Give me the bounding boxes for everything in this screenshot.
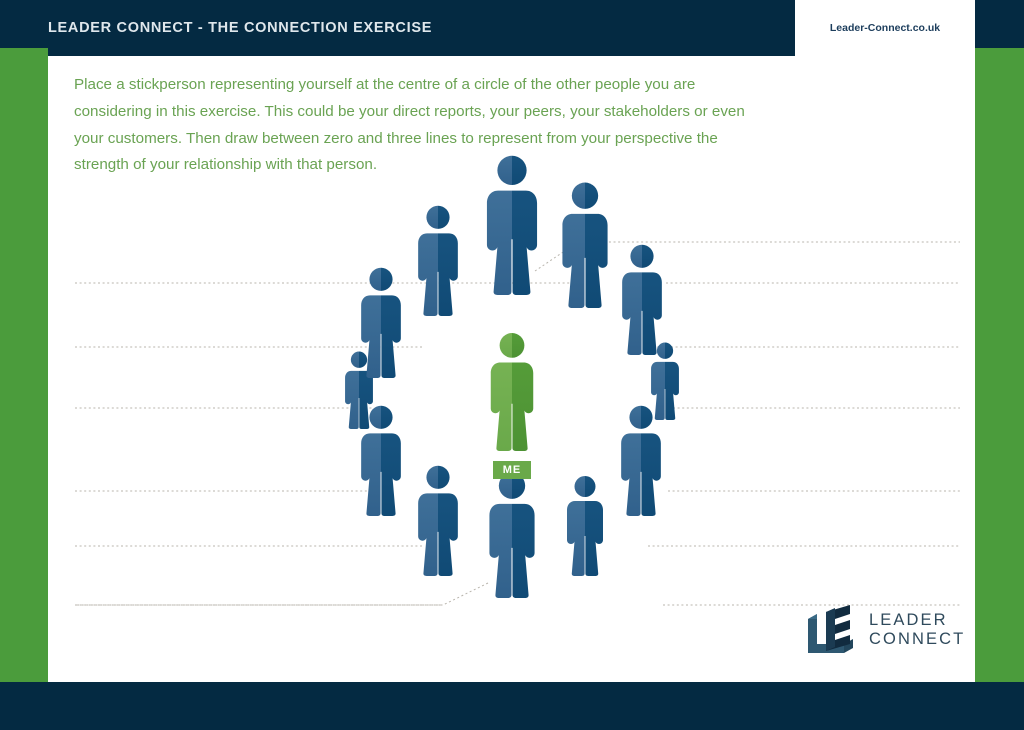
person-left-lower-body-right [381,433,401,516]
slide-canvas: Place a stickperson representing yoursel… [48,56,975,682]
person-bottom[interactable] [489,473,534,598]
person-right-lower-body-right [641,433,661,516]
person-upper-right-head-left [572,183,585,209]
person-right-upper-body-right [642,272,662,355]
person-right-upper[interactable] [622,245,662,355]
person-top-head-right [512,156,527,185]
person-upper-right-body-left [562,214,585,308]
lc-monogram-icon [803,601,861,659]
person-lower-left[interactable] [418,466,458,576]
person-right-upper-body-left [622,272,642,355]
connection-diagram: ME [48,56,975,682]
person-left-body-left [345,371,359,429]
person-right-upper-head-left [630,245,642,268]
person-right-head-right [665,343,673,359]
green-sidebar-right [975,48,1024,682]
person-left-head-left [351,352,359,368]
person-upper-right-body-right [585,214,608,308]
person-lower-right-body-left [567,501,585,576]
person-lower-left-body-right [438,493,458,576]
green-sidebar-left [0,48,48,682]
person-right-lower-body-left [621,433,641,516]
person-right-lower-head-left [629,406,641,429]
footer-bar [0,682,1024,730]
person-right-lower-head-right [641,406,653,429]
person-upper-left[interactable] [418,206,458,316]
figures-group [345,156,679,598]
person-upper-left-body-right [438,233,458,316]
person-left-upper-head-right [381,268,393,291]
me-figure[interactable] [491,333,533,451]
person-lower-right-head-left [575,476,586,497]
person-lower-left-head-right [438,466,450,489]
person-bottom-body-right [512,504,535,598]
logo-text-line1: LEADER [869,611,965,630]
person-right-body-right [665,362,679,420]
person-right-head-left [657,343,665,359]
diagram-svg [48,56,975,682]
connector-bottom-left [75,583,488,605]
person-lower-right-head-right [585,476,596,497]
me-figure-head-right [512,333,524,358]
person-left-upper-body-right [381,295,401,378]
logo-text-line2: CONNECT [869,630,965,649]
person-left-upper[interactable] [361,268,401,378]
page-title: LEADER CONNECT - THE CONNECTION EXERCISE [48,0,432,56]
person-right-upper-head-right [642,245,654,268]
person-bottom-body-left [489,504,512,598]
person-upper-left-body-left [418,233,438,316]
person-left-upper-head-left [369,268,381,291]
person-lower-right[interactable] [567,476,603,576]
person-top-body-right [512,191,537,295]
person-upper-left-head-right [438,206,450,229]
person-left-lower-body-left [361,433,381,516]
person-upper-right-head-right [585,183,598,209]
person-right-lower[interactable] [621,406,661,516]
person-upper-left-head-left [426,206,438,229]
website-url[interactable]: Leader-Connect.co.uk [795,0,975,56]
me-figure-head-left [500,333,512,358]
person-lower-left-head-left [426,466,438,489]
slide-root: LEADER CONNECT - THE CONNECTION EXERCISE… [0,0,1024,730]
person-left-lower-head-right [381,406,393,429]
person-top[interactable] [487,156,537,295]
leader-connect-logo: LEADER CONNECT [803,601,963,665]
me-figure-body-right [512,363,533,452]
logo-wordmark: LEADER CONNECT [869,611,965,649]
person-lower-right-body-right [585,501,603,576]
person-top-body-left [487,191,512,295]
me-figure-body-left [491,363,512,452]
person-right-body-left [651,362,665,420]
me-badge: ME [493,461,531,479]
person-lower-left-body-left [418,493,438,576]
person-left-head-right [359,352,367,368]
person-top-head-left [497,156,512,185]
person-upper-right[interactable] [562,183,607,308]
person-left-lower-head-left [369,406,381,429]
